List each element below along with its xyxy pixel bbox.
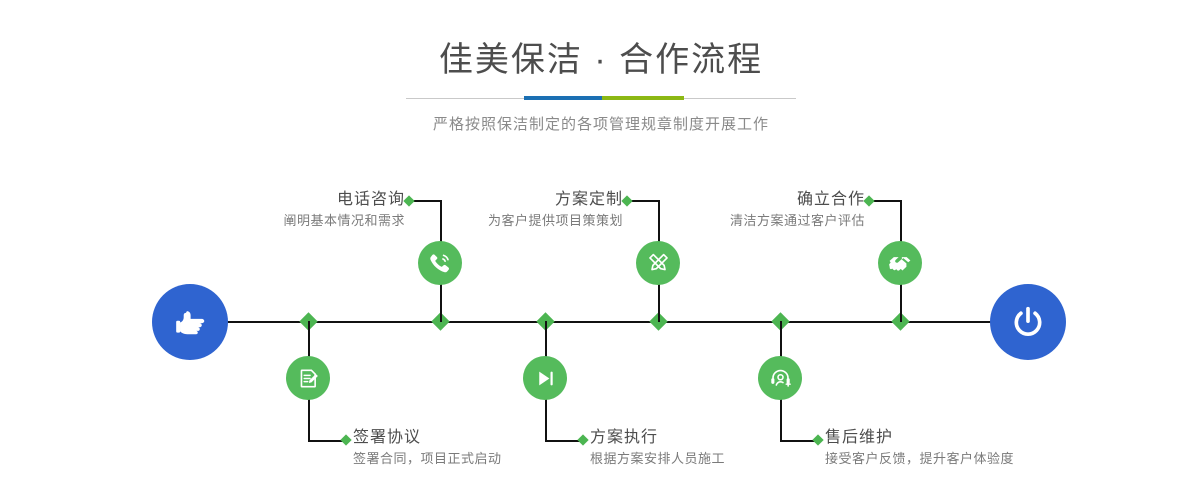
- step-title-sign-agreement: 签署协议: [353, 427, 613, 449]
- branch-arm-sign-agreement: [308, 440, 345, 442]
- page-subtitle: 严格按照保洁制定的各项管理规章制度开展工作: [0, 114, 1202, 136]
- power-icon: [1008, 302, 1048, 342]
- step-desc-plan-execute: 根据方案安排人员施工: [590, 449, 850, 469]
- timeline-end-endpoint[interactable]: [990, 284, 1066, 360]
- step-desc-after-sales: 接受客户反馈，提升客户体验度: [825, 449, 1105, 469]
- step-label-plan-execute: 方案执行 根据方案安排人员施工: [590, 427, 850, 469]
- step-node-phone-consult[interactable]: [418, 241, 462, 285]
- divider-green-segment: [602, 96, 684, 100]
- step-node-after-sales[interactable]: [758, 356, 802, 400]
- pointing-hand-icon: [169, 301, 211, 343]
- step-node-plan-execute[interactable]: [523, 356, 567, 400]
- document-edit-icon: [296, 366, 321, 391]
- branch-tip-establish-cooperation: [863, 195, 874, 206]
- handshake-icon: [887, 250, 913, 276]
- flow-diagram-canvas: 佳美保洁 · 合作流程 严格按照保洁制定的各项管理规章制度开展工作: [0, 0, 1202, 502]
- step-label-phone-consult: 电话咨询 阐明基本情况和需求: [150, 189, 405, 231]
- step-title-phone-consult: 电话咨询: [150, 189, 405, 211]
- step-desc-establish-cooperation: 清洁方案通过客户评估: [610, 211, 865, 231]
- step-node-establish-cooperation[interactable]: [878, 241, 922, 285]
- step-title-plan-customize: 方案定制: [368, 189, 623, 211]
- page-title: 佳美保洁 · 合作流程: [0, 40, 1202, 80]
- timeline-start-endpoint[interactable]: [152, 284, 228, 360]
- phone-call-icon: [427, 250, 453, 276]
- step-label-establish-cooperation: 确立合作 清洁方案通过客户评估: [610, 189, 865, 231]
- page-header: 佳美保洁 · 合作流程 严格按照保洁制定的各项管理规章制度开展工作: [0, 0, 1202, 136]
- step-desc-sign-agreement: 签署合同，项目正式启动: [353, 449, 613, 469]
- step-desc-plan-customize: 为客户提供项目策策划: [368, 211, 623, 231]
- branch-arm-establish-cooperation: [872, 200, 901, 202]
- step-node-sign-agreement[interactable]: [286, 356, 330, 400]
- step-node-plan-customize[interactable]: [636, 241, 680, 285]
- headset-support-icon: [768, 366, 793, 391]
- branch-arm-plan-execute: [545, 440, 582, 442]
- step-desc-phone-consult: 阐明基本情况和需求: [150, 211, 405, 231]
- step-title-after-sales: 售后维护: [825, 427, 1105, 449]
- step-title-establish-cooperation: 确立合作: [610, 189, 865, 211]
- divider-blue-segment: [524, 96, 602, 100]
- step-label-after-sales: 售后维护 接受客户反馈，提升客户体验度: [825, 427, 1105, 469]
- pencil-design-icon: [646, 251, 671, 276]
- branch-tip-sign-agreement: [340, 434, 351, 445]
- step-label-plan-customize: 方案定制 为客户提供项目策策划: [368, 189, 623, 231]
- step-title-plan-execute: 方案执行: [590, 427, 850, 449]
- step-label-sign-agreement: 签署协议 签署合同，项目正式启动: [353, 427, 613, 469]
- branch-arm-after-sales: [780, 440, 817, 442]
- title-divider: [406, 94, 796, 104]
- play-execute-icon: [533, 366, 558, 391]
